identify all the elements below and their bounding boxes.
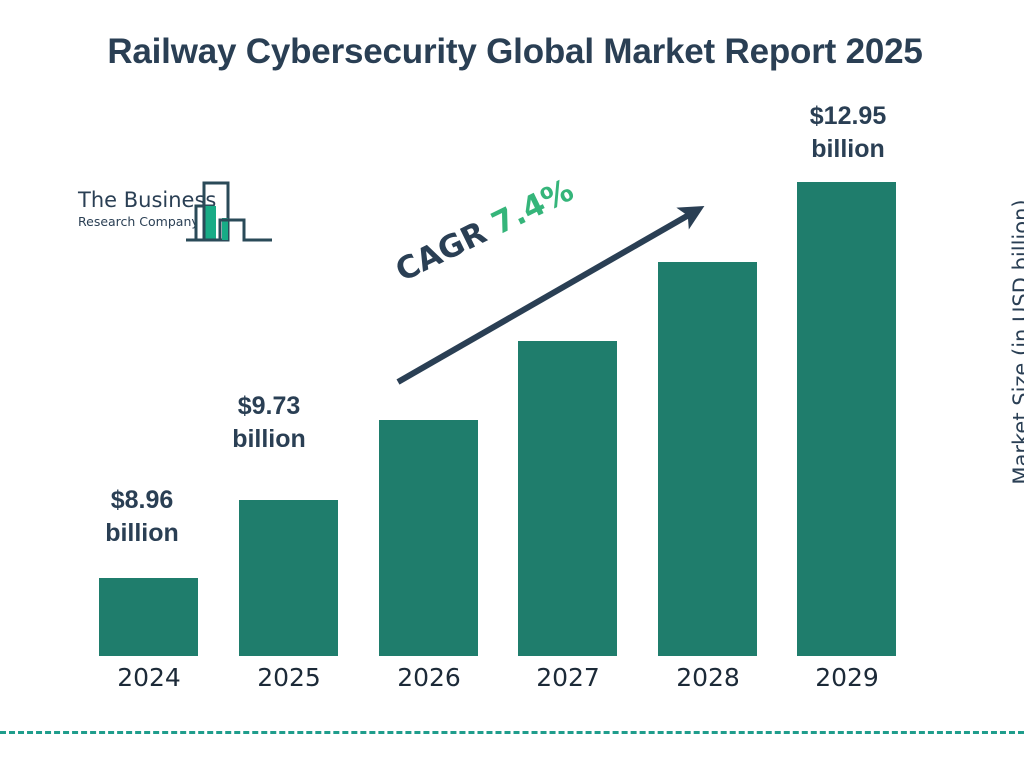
bar-chart-logo-mark (186, 178, 286, 253)
bar-2024 (99, 578, 198, 656)
footer-divider (0, 731, 1024, 734)
value-callout-2025-unit: billion (205, 423, 333, 456)
bar-2027 (518, 341, 617, 656)
bar-2028 (658, 262, 757, 656)
x-tick-2028: 2028 (648, 663, 768, 692)
value-callout-2029-unit: billion (770, 133, 926, 166)
x-tick-2027: 2027 (508, 663, 628, 692)
bar-2029 (797, 182, 896, 656)
cagr-label-word: CAGR (390, 215, 492, 289)
cagr-label-value: 7.4% (486, 172, 579, 242)
x-tick-2029: 2029 (787, 663, 907, 692)
value-callout-2024-unit: billion (78, 517, 206, 550)
cagr-annotation: CAGR 7.4% (390, 172, 579, 289)
x-tick-2024: 2024 (89, 663, 209, 692)
value-callout-2025: $9.73 billion (205, 390, 333, 456)
value-callout-2024-amount: $8.96 (78, 484, 206, 517)
value-callout-2029-amount: $12.95 (770, 100, 926, 133)
x-tick-2025: 2025 (229, 663, 349, 692)
value-callout-2024: $8.96 billion (78, 484, 206, 550)
bar-2026 (379, 420, 478, 656)
x-axis-labels: 2024 2025 2026 2027 2028 2029 (0, 663, 1024, 699)
company-logo: The Business Research Company (78, 178, 288, 248)
chart-canvas: Railway Cybersecurity Global Market Repo… (0, 0, 1024, 768)
value-callout-2029: $12.95 billion (770, 100, 926, 166)
value-callout-2025-amount: $9.73 (205, 390, 333, 423)
y-axis-title: Market Size (in USD billion) (1009, 177, 1024, 507)
page-title: Railway Cybersecurity Global Market Repo… (70, 30, 960, 75)
bar-2025 (239, 500, 338, 656)
x-tick-2026: 2026 (369, 663, 489, 692)
